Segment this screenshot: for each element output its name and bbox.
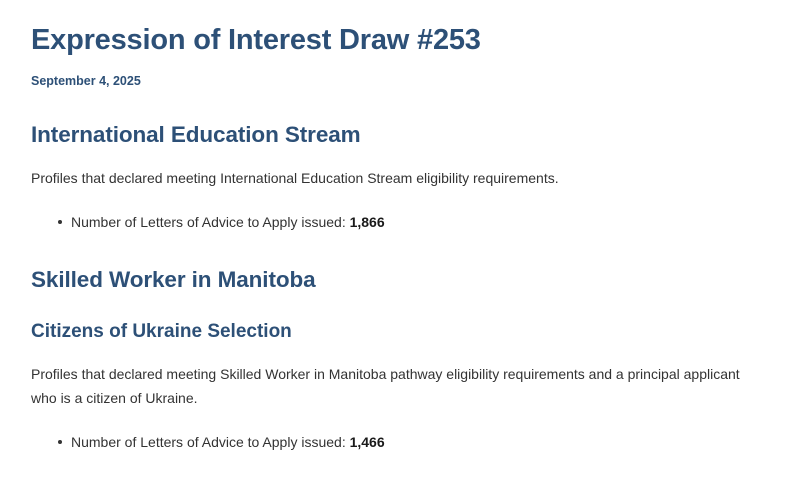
list-item: Number of Letters of Advice to Apply iss… bbox=[31, 431, 763, 453]
draw-date: September 4, 2025 bbox=[31, 57, 763, 89]
bullet-value: 1,466 bbox=[350, 434, 385, 450]
section-heading-international-education-stream: International Education Stream bbox=[31, 89, 763, 148]
section-description-skilled-worker-in-manitoba: Profiles that declared meeting Skilled W… bbox=[31, 344, 763, 410]
bullet-label: Number of Letters of Advice to Apply iss… bbox=[71, 434, 350, 450]
bullet-value: 1,866 bbox=[350, 214, 385, 230]
section-description-international-education-stream: Profiles that declared meeting Internati… bbox=[31, 148, 763, 190]
section-heading-skilled-worker-in-manitoba: Skilled Worker in Manitoba bbox=[31, 234, 763, 293]
subsection-heading-citizens-of-ukraine-selection: Citizens of Ukraine Selection bbox=[31, 293, 763, 344]
bullet-label: Number of Letters of Advice to Apply iss… bbox=[71, 214, 350, 230]
stats-list-international-education-stream: Number of Letters of Advice to Apply iss… bbox=[31, 190, 763, 233]
document-content: Expression of Interest Draw #253 Septemb… bbox=[0, 0, 794, 453]
stats-list-skilled-worker-in-manitoba: Number of Letters of Advice to Apply iss… bbox=[31, 410, 763, 453]
list-item: Number of Letters of Advice to Apply iss… bbox=[31, 211, 763, 233]
section-international-education-stream: International Education Stream Profiles … bbox=[31, 89, 763, 233]
document-page: Expression of Interest Draw #253 Septemb… bbox=[0, 0, 794, 496]
section-skilled-worker-in-manitoba: Skilled Worker in Manitoba Citizens of U… bbox=[31, 234, 763, 453]
page-title: Expression of Interest Draw #253 bbox=[31, 0, 763, 57]
